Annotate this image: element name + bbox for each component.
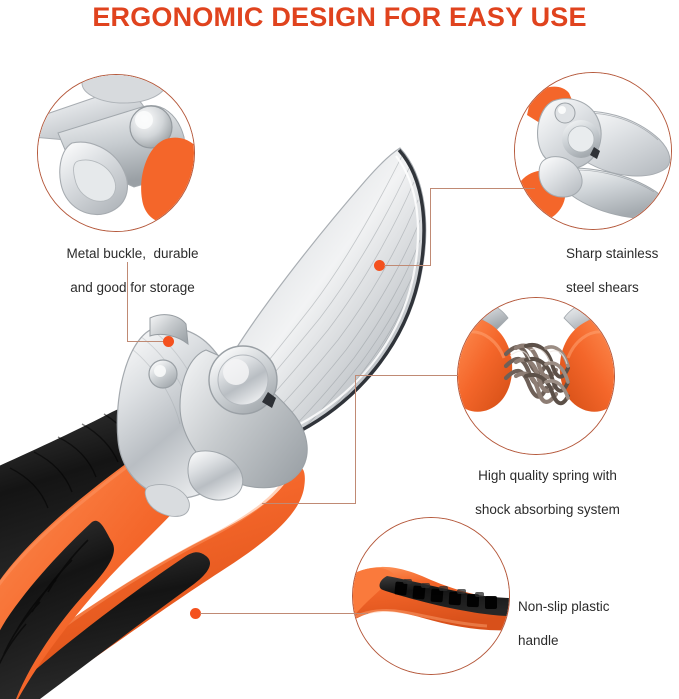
callout-circle-metal-buckle bbox=[37, 74, 195, 232]
page-title: ERGONOMIC DESIGN FOR EASY USE bbox=[0, 2, 679, 33]
caption-non-slip-handle-line1: Non-slip plastic bbox=[518, 599, 610, 614]
leader-line-metal-buckle-vertical bbox=[127, 262, 128, 342]
caption-non-slip-handle: Non-slip plastic handle bbox=[503, 581, 653, 666]
caption-non-slip-handle-line2: handle bbox=[518, 633, 559, 648]
callout-circle-non-slip-handle bbox=[352, 517, 510, 675]
callout-circle-spring bbox=[457, 297, 615, 455]
infographic-canvas: ERGONOMIC DESIGN FOR EASY USE bbox=[0, 0, 679, 699]
caption-spring-line2: shock absorbing system bbox=[475, 502, 620, 517]
caption-spring: High quality spring with shock absorbing… bbox=[440, 450, 640, 535]
caption-sharp-shears: Sharp stainless steel shears bbox=[551, 228, 679, 313]
caption-metal-buckle: Metal buckle, durable and good for stora… bbox=[25, 228, 225, 313]
caption-spring-line1: High quality spring with bbox=[478, 468, 617, 483]
leader-line-spring-vertical bbox=[355, 375, 356, 504]
caption-metal-buckle-line1: Metal buckle, durable bbox=[66, 246, 198, 261]
leader-line-spring-upper bbox=[355, 375, 458, 376]
leader-line-sharp-shears-vertical bbox=[430, 188, 431, 266]
leader-line-spring-lower bbox=[262, 503, 356, 504]
marker-dot-metal-buckle bbox=[163, 336, 174, 347]
callout-circle-sharp-shears bbox=[514, 72, 672, 230]
caption-metal-buckle-line2: and good for storage bbox=[70, 280, 195, 295]
caption-sharp-shears-line2: steel shears bbox=[566, 280, 639, 295]
leader-line-non-slip-handle bbox=[200, 613, 368, 614]
leader-line-sharp-shears-upper bbox=[430, 188, 535, 189]
caption-sharp-shears-line1: Sharp stainless bbox=[566, 246, 658, 261]
leader-line-sharp-shears-lower bbox=[384, 265, 431, 266]
